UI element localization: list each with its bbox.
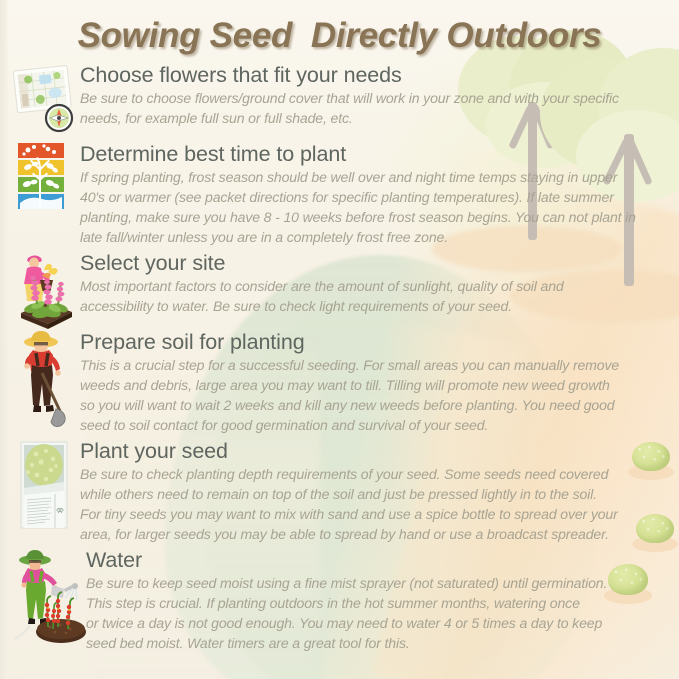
step-text: Select your site Most important factors …: [80, 250, 679, 316]
step-plant-seed: Plant your seed Be sure to check plantin…: [0, 438, 679, 544]
step-body: If spring planting, frost season should …: [80, 167, 671, 247]
seed-packet-icon-svg: [8, 438, 80, 533]
step-heading: Choose flowers that fit your needs: [80, 63, 671, 87]
step-body: This is a crucial step for a successful …: [80, 355, 671, 435]
gardener-watering-icon: [8, 547, 86, 647]
gardener-with-shovel-icon: [8, 329, 80, 429]
gardener-with-shovel-icon-svg: [8, 329, 80, 429]
step-water: Water Be sure to keep seed moist using a…: [0, 547, 679, 653]
page-title: Sowing Seed Directly Outdoors: [0, 16, 679, 56]
infographic-poster: Sowing Seed Directly Outdoors: [0, 0, 679, 679]
step-prepare-soil: Prepare soil for planting This is a cruc…: [0, 329, 679, 435]
step-body: Most important factors to consider are t…: [80, 276, 671, 316]
step-heading: Prepare soil for planting: [80, 330, 671, 354]
step-heading: Select your site: [80, 251, 671, 275]
step-text: Prepare soil for planting This is a cruc…: [80, 329, 679, 435]
garden-plan-compass-icon: [8, 62, 80, 138]
step-select-site: Select your site Most important factors …: [0, 250, 679, 326]
step-determine-time: Determine best time to plant If spring p…: [0, 141, 679, 247]
gardener-with-flower-bed-icon: [8, 250, 80, 326]
poster-content: Sowing Seed Directly Outdoors: [0, 0, 679, 679]
step-body: Be sure to keep seed moist using a fine …: [86, 573, 671, 653]
four-seasons-tree-icon-svg: [8, 141, 80, 217]
garden-plan-compass-icon-svg: [8, 62, 80, 138]
step-body: Be sure to choose flowers/ground cover t…: [80, 88, 671, 128]
gardener-with-flower-bed-icon-svg: [8, 250, 80, 330]
step-heading: Determine best time to plant: [80, 142, 671, 166]
step-heading: Plant your seed: [80, 439, 671, 463]
step-text: Plant your seed Be sure to check plantin…: [80, 438, 679, 544]
steps-list: Choose flowers that fit your needs Be su…: [0, 62, 679, 656]
step-text: Choose flowers that fit your needs Be su…: [80, 62, 679, 128]
step-text: Determine best time to plant If spring p…: [80, 141, 679, 247]
step-text: Water Be sure to keep seed moist using a…: [86, 547, 679, 653]
seed-packet-icon: [8, 438, 80, 533]
step-heading: Water: [86, 548, 671, 572]
step-choose-flowers: Choose flowers that fit your needs Be su…: [0, 62, 679, 138]
four-seasons-tree-icon: [8, 141, 80, 217]
gardener-watering-icon-svg: [8, 547, 86, 647]
step-body: Be sure to check planting depth requirem…: [80, 464, 671, 544]
